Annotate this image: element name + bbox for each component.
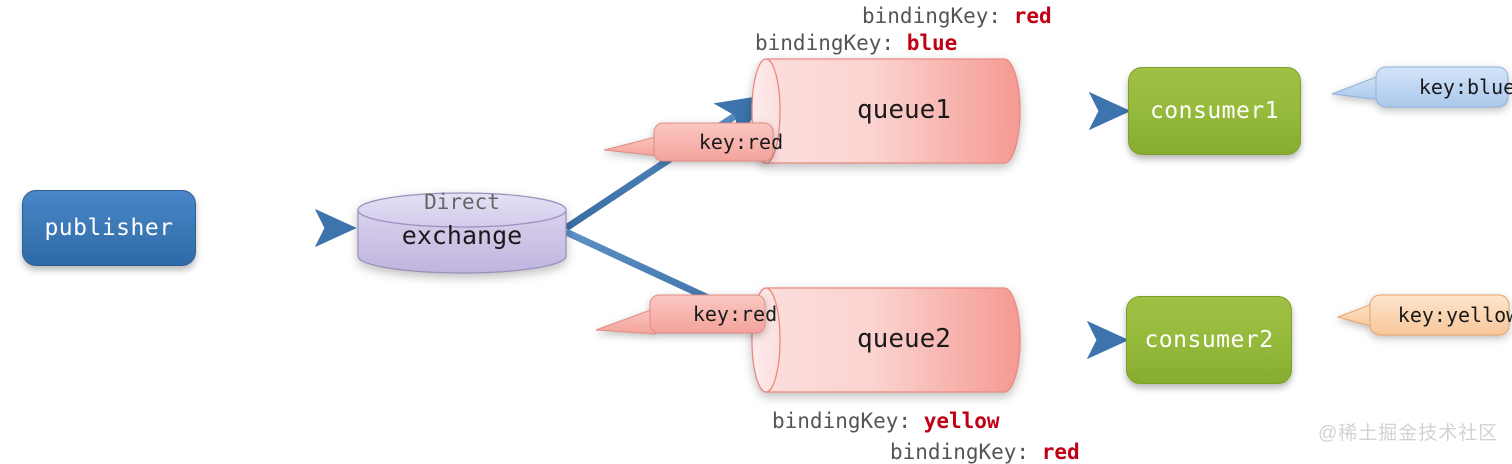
binding-label-queue2-yellow-key: yellow	[924, 409, 1000, 433]
callout-route-queue1[interactable]: key:red	[604, 122, 774, 164]
consumer1-label: consumer1	[1150, 98, 1279, 124]
callout-message-consumer2[interactable]: key:yellow	[1338, 294, 1510, 340]
binding-label-queue1-blue: bindingKey: blue	[755, 31, 957, 55]
binding-label-queue1-red: bindingKey: red	[862, 4, 1052, 28]
consumer2-node[interactable]: consumer2	[1126, 296, 1292, 384]
binding-label-queue1-red-key: red	[1014, 4, 1052, 28]
watermark: @稀土掘金技术社区	[1318, 418, 1498, 445]
queue2-node[interactable]: queue2	[752, 286, 1020, 394]
binding-label-queue2-yellow-prefix: bindingKey:	[772, 409, 924, 433]
consumer1-node[interactable]: consumer1	[1128, 67, 1301, 155]
binding-label-queue2-yellow: bindingKey: yellow	[772, 409, 1000, 433]
callout-message-consumer1[interactable]: key:blue	[1332, 66, 1510, 112]
binding-label-queue1-blue-prefix: bindingKey:	[755, 31, 907, 55]
binding-label-queue2-red: bindingKey: red	[890, 440, 1080, 464]
binding-label-queue1-blue-key: blue	[907, 31, 958, 55]
diagram-canvas: publisher Direct exchange	[0, 0, 1512, 464]
binding-label-queue2-red-prefix: bindingKey:	[890, 440, 1042, 464]
publisher-node[interactable]: publisher	[22, 190, 196, 266]
exchange-node[interactable]: Direct exchange	[356, 192, 568, 274]
binding-label-queue1-red-prefix: bindingKey:	[862, 4, 1014, 28]
consumer2-label: consumer2	[1144, 327, 1273, 353]
queue1-node[interactable]: queue1	[752, 57, 1020, 165]
publisher-label: publisher	[44, 215, 173, 241]
callout-route-queue2[interactable]: key:red	[596, 294, 766, 340]
binding-label-queue2-red-key: red	[1042, 440, 1080, 464]
